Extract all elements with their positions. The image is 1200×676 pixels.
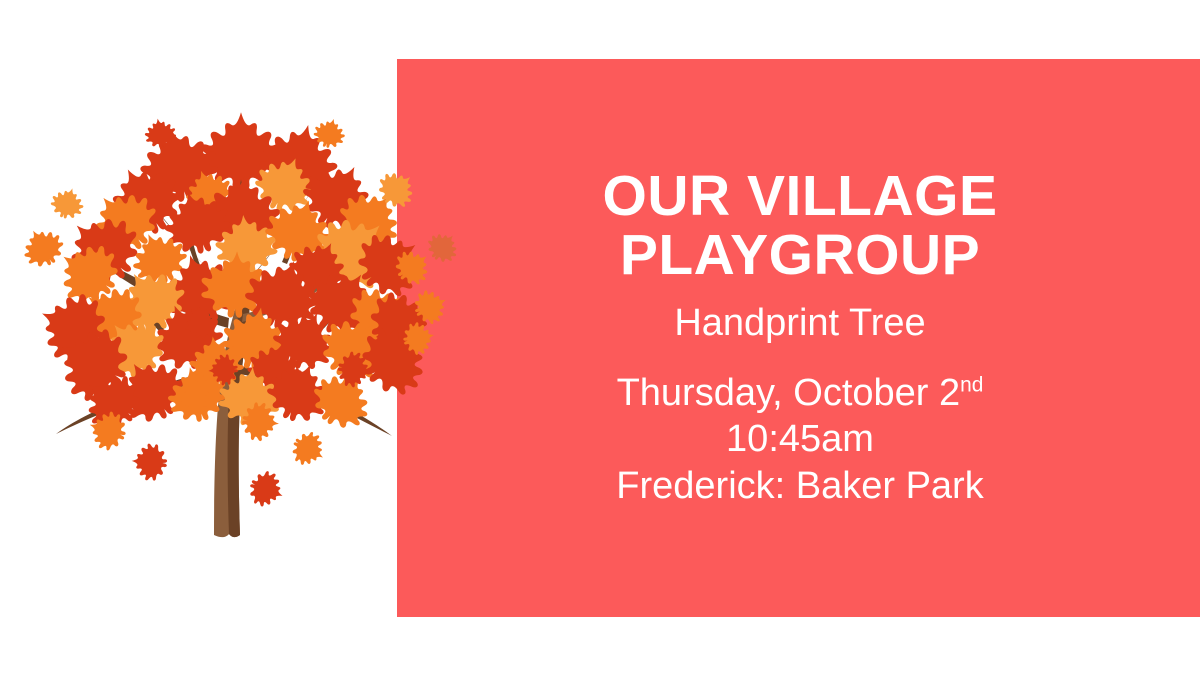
event-date-ordinal: nd [960,373,983,396]
event-date: Thursday, October 2nd [616,370,983,416]
headline-line-1: OUR VILLAGE [602,167,997,226]
headline-line-2: PLAYGROUP [602,226,997,285]
flyer-canvas: OUR VILLAGE PLAYGROUP Handprint Tree Thu… [0,0,1200,676]
page-title: OUR VILLAGE PLAYGROUP [602,167,997,284]
event-details: Thursday, October 2nd 10:45am Frederick:… [616,370,983,509]
event-location: Frederick: Baker Park [616,463,983,509]
event-time: 10:45am [616,416,983,462]
tree-leaves [28,112,444,440]
event-date-text: Thursday, October 2 [617,372,961,414]
autumn-tree-illustration [0,70,460,570]
event-subtitle: Handprint Tree [674,302,925,346]
autumn-tree-svg [0,70,460,570]
flyer-text-block: OUR VILLAGE PLAYGROUP Handprint Tree Thu… [430,59,1170,617]
